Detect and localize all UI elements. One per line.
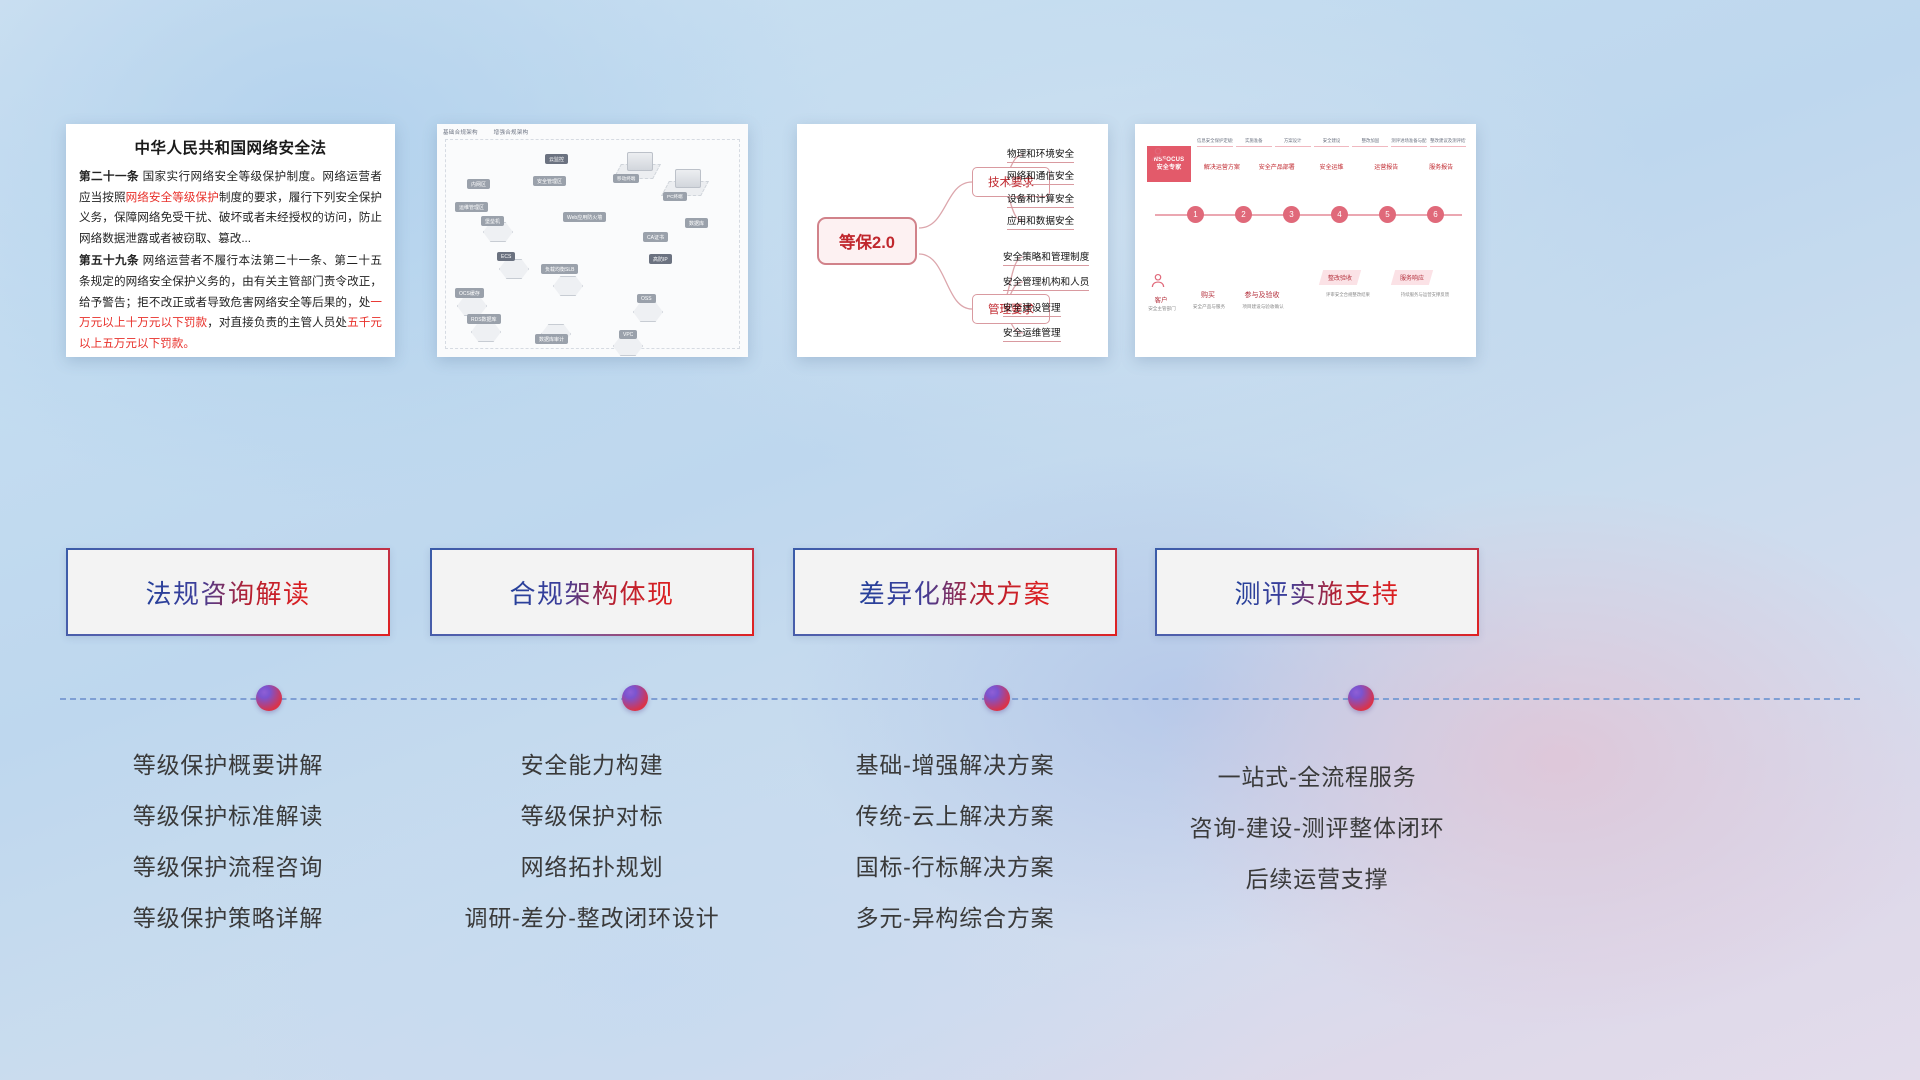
- list-item: 基础-增强解决方案: [793, 740, 1117, 791]
- mindmap-leaf-t3: 设备和计算安全: [1007, 191, 1074, 208]
- nsfocus-top-item-1: 信息安全保护定级报告评审: [1197, 138, 1233, 147]
- timeline-node-4[interactable]: [1348, 685, 1374, 711]
- pillar-differentiated-solution[interactable]: 差异化解决方案: [793, 548, 1117, 636]
- arch-tag-rds: RDS数据库: [467, 314, 501, 324]
- card-cybersecurity-law[interactable]: 中华人民共和国网络安全法 第二十一条 国家实行网络安全等级保护制度。网络运营者应…: [66, 124, 395, 357]
- arch-tag-intranet: 内网区: [467, 179, 490, 189]
- nsfocus-result-title-2: 服务响应: [1400, 273, 1424, 282]
- list-item: 等级保护概要讲解: [66, 740, 390, 791]
- list-item: 多元-异构综合方案: [793, 893, 1117, 944]
- mindmap-leaf-t4: 应用和数据安全: [1007, 213, 1074, 230]
- pillar-assessment-support[interactable]: 测评实施支持: [1155, 548, 1479, 636]
- mindmap-leaf-m4: 安全运维管理: [1003, 325, 1061, 342]
- law-article-59: 第五十九条 网络运营者不履行本法第二十一条、第二十五条规定的网络安全保护义务的，…: [79, 251, 382, 354]
- arch-tag-dbaudit: 数据库审计: [535, 334, 568, 344]
- nsfocus-actor-sub: 安全主管部门: [1139, 306, 1185, 312]
- pillar-regulation-consulting[interactable]: 法规咨询解读: [66, 548, 390, 636]
- detail-column-1: 等级保护概要讲解 等级保护标准解读 等级保护流程咨询 等级保护策略详解: [66, 740, 390, 944]
- pillar-label-2: 合规架构体现: [509, 574, 674, 611]
- list-item: 咨询-建设-测评整体闭环: [1155, 803, 1479, 854]
- law-article-21: 第二十一条 国家实行网络安全等级保护制度。网络运营者应当按照网络安全等级保护制度…: [79, 167, 382, 249]
- expert-person-icon: [1149, 146, 1167, 164]
- nsfocus-top-items: 信息安全保护定级报告评审 实施准备 方案设计 安全建设 整改加固 测评进场准备与…: [1197, 138, 1466, 147]
- mindmap-diagram: 等保2.0 技术要求 管理要求 物理和环境安全 网络和通信安全 设备和计算安全 …: [797, 124, 1108, 357]
- nsfocus-step-1: 1: [1187, 206, 1204, 223]
- article-21-label: 第二十一条: [79, 170, 139, 183]
- nsfocus-step-2: 2: [1235, 206, 1252, 223]
- pillar-label-4: 测评实施支持: [1234, 574, 1399, 611]
- article-21-highlight: 网络安全等级保护: [126, 191, 219, 204]
- nsfocus-phase-3: 安全运维: [1307, 162, 1357, 171]
- nsfocus-step-3: 3: [1283, 206, 1300, 223]
- nsfocus-step-4: 4: [1331, 206, 1348, 223]
- nsfocus-result-2: 服务响应: [1391, 270, 1433, 285]
- arch-tag-ecs: ECS: [497, 252, 515, 261]
- timeline-node-1[interactable]: [256, 685, 282, 711]
- nsfocus-top-item-4: 安全建设: [1314, 138, 1350, 147]
- nsfocus-phase-row: 解决运营方案 安全产品部署 安全运维 运营报告 服务报告: [1197, 162, 1466, 171]
- nsfocus-bottom-title-1: 购买: [1191, 290, 1225, 300]
- nsfocus-step-5: 5: [1379, 206, 1396, 223]
- arch-tag-antiddos: 高防IP: [649, 254, 672, 264]
- arch-tag-waf: Web应用防火墙: [563, 212, 606, 222]
- nsfocus-phase-2: 安全产品部署: [1252, 162, 1302, 171]
- mindmap-leaf-t1: 物理和环境安全: [1007, 146, 1074, 163]
- arch-tag-database: 数据库: [685, 218, 708, 228]
- arch-tag-pc: PC终端: [663, 192, 687, 201]
- nsfocus-bottom-sub-2: 项目建设与验收确认: [1229, 304, 1297, 310]
- nsfocus-actor-label: 客户: [1143, 294, 1179, 304]
- nsfocus-phase-5: 服务报告: [1416, 162, 1466, 171]
- nsfocus-phase-1: 解决运营方案: [1197, 162, 1247, 171]
- arch-server-mobile: [627, 152, 653, 171]
- detail-column-4: 一站式-全流程服务 咨询-建设-测评整体闭环 后续运营支撑: [1155, 752, 1479, 905]
- mindmap-leaf-m3: 安全建设管理: [1003, 300, 1061, 317]
- nsfocus-step-6: 6: [1427, 206, 1444, 223]
- nsfocus-diagram: NSFOCUS 安全专家 信息安全保护定级报告评审 实施准备 方案设计 安全建设…: [1135, 124, 1476, 357]
- architecture-header-left: 基础合规架构: [443, 130, 478, 136]
- list-item: 等级保护对标: [430, 791, 754, 842]
- nsfocus-brand-line2: 安全专家: [1157, 164, 1182, 172]
- list-item: 安全能力构建: [430, 740, 754, 791]
- timeline-rule: [60, 698, 1860, 700]
- nsfocus-result-1: 整改验收: [1319, 270, 1361, 285]
- nsfocus-bottom-title-2: 参与及验收: [1239, 290, 1285, 300]
- mindmap-root: 等保2.0: [817, 217, 917, 265]
- card-mindmap-dengbao[interactable]: 等保2.0 技术要求 管理要求 物理和环境安全 网络和通信安全 设备和计算安全 …: [797, 124, 1108, 357]
- arch-tag-bastion: 堡垒机: [481, 216, 504, 226]
- pillar-label-1: 法规咨询解读: [145, 574, 310, 611]
- architecture-header: 基础合规架构 增强合规架构: [443, 128, 542, 136]
- list-item: 国标-行标解决方案: [793, 842, 1117, 893]
- pillar-row: 法规咨询解读 合规架构体现 差异化解决方案 测评实施支持: [0, 548, 1920, 638]
- card-nsfocus-roadmap[interactable]: NSFOCUS 安全专家 信息安全保护定级报告评审 实施准备 方案设计 安全建设…: [1135, 124, 1476, 357]
- timeline-node-2[interactable]: [622, 685, 648, 711]
- nsfocus-result-sub-1: 评审安全合规整改结果: [1311, 292, 1385, 298]
- list-item: 一站式-全流程服务: [1155, 752, 1479, 803]
- preview-card-row: 中华人民共和国网络安全法 第二十一条 国家实行网络安全等级保护制度。网络运营者应…: [0, 124, 1920, 360]
- arch-tag-cloud: 云监控: [545, 154, 568, 164]
- arch-tag-ca: CA证书: [643, 232, 668, 242]
- infographic-page: 中华人民共和国网络安全法 第二十一条 国家实行网络安全等级保护制度。网络运营者应…: [0, 0, 1920, 1080]
- architecture-diagram: 基础合规架构 增强合规架构 云监控 移动终端 PC终端 内网区 运维管理区 安全…: [437, 124, 748, 357]
- list-item: 调研-差分-整改闭环设计: [430, 893, 754, 944]
- nsfocus-top-item-3: 方案设计: [1275, 138, 1311, 147]
- detail-column-3: 基础-增强解决方案 传统-云上解决方案 国标-行标解决方案 多元-异构综合方案: [793, 740, 1117, 944]
- nsfocus-top-item-7: 整改建议及测评结论签发: [1430, 138, 1466, 147]
- list-item: 网络拓扑规划: [430, 842, 754, 893]
- customer-person-icon: [1149, 272, 1167, 290]
- list-item: 传统-云上解决方案: [793, 791, 1117, 842]
- timeline-node-3[interactable]: [984, 685, 1010, 711]
- arch-tag-ops: 运维管理区: [455, 202, 488, 212]
- list-item: 等级保护策略详解: [66, 893, 390, 944]
- arch-server-pc: [675, 169, 701, 188]
- pillar-label-3: 差异化解决方案: [859, 574, 1052, 611]
- law-document: 中华人民共和国网络安全法 第二十一条 国家实行网络安全等级保护制度。网络运营者应…: [66, 124, 395, 354]
- architecture-header-right: 增强合规架构: [494, 130, 529, 136]
- law-title: 中华人民共和国网络安全法: [79, 136, 382, 158]
- arch-tag-slb: 负载均衡SLB: [541, 264, 578, 274]
- nsfocus-top-item-6: 测评进场准备与配合: [1391, 138, 1427, 147]
- arch-tag-vpc: VPC: [619, 330, 637, 339]
- detail-column-2: 安全能力构建 等级保护对标 网络拓扑规划 调研-差分-整改闭环设计: [430, 740, 754, 944]
- mindmap-leaf-m1: 安全策略和管理制度: [1003, 249, 1089, 266]
- pillar-compliance-architecture[interactable]: 合规架构体现: [430, 548, 754, 636]
- mindmap-leaf-m2: 安全管理机构和人员: [1003, 274, 1089, 291]
- article-59-label: 第五十九条: [79, 254, 139, 267]
- arch-tag-oss: OSS: [637, 294, 656, 303]
- list-item: 等级保护标准解读: [66, 791, 390, 842]
- list-item: 等级保护流程咨询: [66, 842, 390, 893]
- article-59-text-b: ，对直接负责的主管人员处: [207, 316, 347, 329]
- nsfocus-result-title-1: 整改验收: [1328, 273, 1352, 282]
- arch-tag-mobile: 移动终端: [613, 174, 639, 183]
- nsfocus-top-item-2: 实施准备: [1236, 138, 1272, 147]
- mindmap-leaf-t2: 网络和通信安全: [1007, 168, 1074, 185]
- arch-tag-ocs: OCS缓存: [455, 288, 484, 298]
- nsfocus-top-item-5: 整改加固: [1352, 138, 1388, 147]
- nsfocus-phase-4: 运营报告: [1361, 162, 1411, 171]
- card-cloud-architecture[interactable]: 基础合规架构 增强合规架构 云监控 移动终端 PC终端 内网区 运维管理区 安全…: [437, 124, 748, 357]
- nsfocus-result-sub-2: 持续服务与运营支撑反馈: [1383, 292, 1467, 298]
- list-item: 后续运营支撑: [1155, 854, 1479, 905]
- arch-tag-secmgmt: 安全管理区: [533, 176, 566, 186]
